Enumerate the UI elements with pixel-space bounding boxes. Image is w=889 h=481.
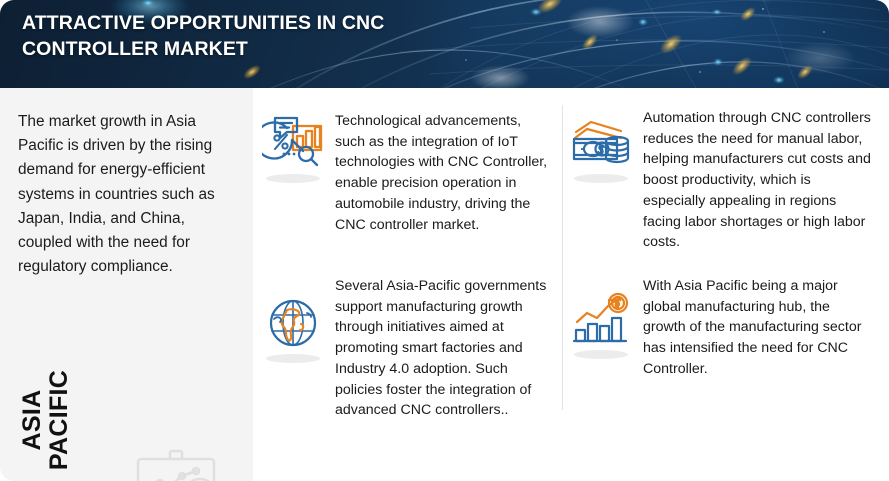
region-label: ASIA PACIFIC [19, 340, 73, 481]
icon-shadow [574, 174, 628, 183]
globe-icon [256, 276, 330, 360]
region-label-line1: ASIA [19, 340, 46, 481]
presentation-chart-magnifier-icon [126, 445, 230, 481]
left-summary-panel: The market growth in Asia Pacific is dri… [0, 88, 253, 481]
iot-analytics-icon [256, 106, 330, 180]
icon-shadow [574, 350, 628, 359]
infographic-root: ATTRACTIVE OPPORTUNITIES IN CNC CONTROLL… [0, 0, 889, 481]
insight-card-manufacturing-hub: With Asia Pacific being a major global m… [566, 276, 886, 380]
icon-shadow [266, 354, 320, 363]
insight-card-government: Several Asia-Pacific governments support… [256, 276, 566, 421]
insight-card-text: With Asia Pacific being a major global m… [643, 276, 873, 380]
region-label-line2: PACIFIC [46, 340, 73, 481]
insight-card-text: Several Asia-Pacific governments support… [335, 276, 553, 421]
intro-paragraph: The market growth in Asia Pacific is dri… [18, 110, 240, 279]
insight-card-text: Automation through CNC controllers reduc… [643, 106, 873, 253]
insight-card-text: Technological advancements, such as the … [335, 106, 553, 235]
cash-coins-icon [566, 106, 636, 180]
insight-card-technology: Technological advancements, such as the … [256, 106, 566, 235]
insight-card-automation: Automation through CNC controllers reduc… [566, 106, 886, 253]
growth-chart-dollar-icon [566, 276, 636, 356]
page-title: ATTRACTIVE OPPORTUNITIES IN CNC CONTROLL… [22, 11, 492, 63]
body-area: The market growth in Asia Pacific is dri… [0, 88, 889, 481]
icon-shadow [266, 174, 320, 183]
header-banner: ATTRACTIVE OPPORTUNITIES IN CNC CONTROLL… [0, 0, 889, 88]
cards-panel: Technological advancements, such as the … [253, 88, 889, 481]
